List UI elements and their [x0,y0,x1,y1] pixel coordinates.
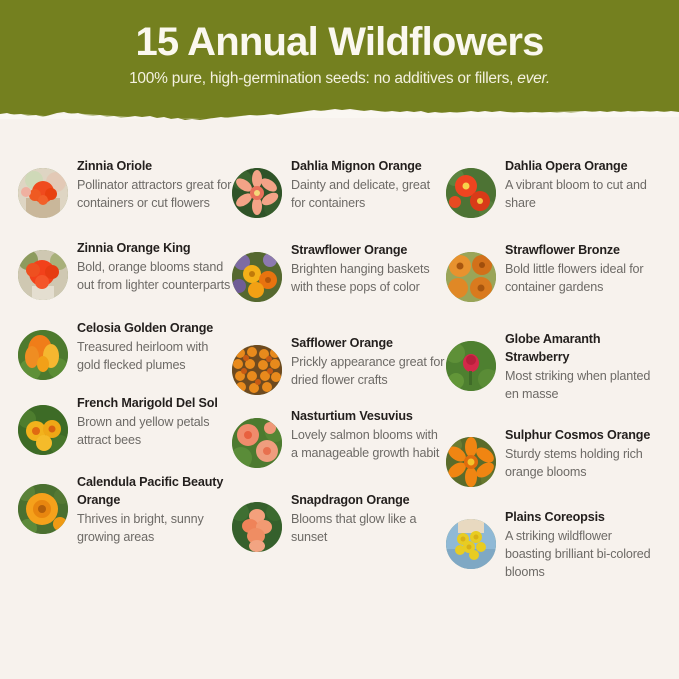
item-text: Nasturtium Vesuvius Lovely salmon blooms… [291,406,446,462]
item-description: A striking wildflower boasting brilliant… [505,527,661,581]
dahlia-opera-orange-photo-icon [446,168,496,218]
page-title: 15 Annual Wildflowers [0,20,679,64]
item-text: Zinnia Oriole Pollinator attractors grea… [77,156,232,212]
list-item[interactable]: Zinnia Oriole Pollinator attractors grea… [18,156,232,218]
list-item[interactable]: Strawflower Bronze Bold little flowers i… [446,240,661,302]
list-item[interactable]: Plains Coreopsis A striking wildflower b… [446,507,661,581]
list-item[interactable]: Snapdragon Orange Blooms that glow like … [232,490,446,552]
subtitle-emphasis-text: ever. [517,70,550,87]
item-text: Strawflower Orange Brighten hanging bask… [291,240,446,296]
item-description: Pollinator attractors great for containe… [77,176,232,212]
item-description: Treasured heirloom with gold flecked plu… [77,338,232,374]
nasturtium-vesuvius-photo-icon [232,418,282,468]
item-text: Strawflower Bronze Bold little flowers i… [505,240,661,296]
item-text: Snapdragon Orange Blooms that glow like … [291,490,446,546]
item-description: Blooms that glow like a sunset [291,510,446,546]
grid-columns: Zinnia Oriole Pollinator attractors grea… [18,142,661,592]
item-description: Bold little flowers ideal for container … [505,260,661,296]
page-header: 15 Annual Wildflowers 100% pure, high-ge… [0,0,679,128]
item-description: Lovely salmon blooms with a manageable g… [291,426,446,462]
zinnia-oriole-photo-icon [18,168,68,218]
item-name: Zinnia Orange King [77,240,232,258]
list-item[interactable]: Nasturtium Vesuvius Lovely salmon blooms… [232,406,446,468]
strawflower-bronze-photo-icon [446,252,496,302]
item-name: Calendula Pacific Beauty Orange [77,474,232,510]
item-text: Calendula Pacific Beauty Orange Thrives … [77,472,232,546]
item-name: French Marigold Del Sol [77,395,232,413]
item-text: French Marigold Del Sol Brown and yellow… [77,393,232,449]
safflower-orange-photo-icon [232,345,282,395]
item-description: Sturdy stems holding rich orange blooms [505,445,661,481]
flower-grid: Zinnia Oriole Pollinator attractors grea… [0,128,679,679]
item-name: Plains Coreopsis [505,509,661,527]
torn-paper-edge-icon [0,95,679,128]
list-item[interactable]: Sulphur Cosmos Orange Sturdy stems holdi… [446,425,661,487]
list-item[interactable]: Dahlia Mignon Orange Dainty and delicate… [232,156,446,218]
plains-coreopsis-photo-icon [446,519,496,569]
item-name: Sulphur Cosmos Orange [505,427,661,445]
subtitle-main-text: 100% pure, high-germination seeds: no ad… [129,70,517,87]
page-subtitle: 100% pure, high-germination seeds: no ad… [0,70,679,88]
list-item[interactable]: Safflower Orange Prickly appearance grea… [232,333,446,395]
item-description: Bold, orange blooms stand out from light… [77,258,232,294]
item-name: Nasturtium Vesuvius [291,408,446,426]
list-item[interactable]: French Marigold Del Sol Brown and yellow… [18,393,232,455]
item-description: Prickly appearance great for dried flowe… [291,353,446,389]
grid-column-2: Dahlia Mignon Orange Dainty and delicate… [232,142,446,592]
item-text: Plains Coreopsis A striking wildflower b… [505,507,661,581]
infographic-page: 15 Annual Wildflowers 100% pure, high-ge… [0,0,679,679]
list-item[interactable]: Celosia Golden Orange Treasured heirloom… [18,318,232,380]
celosia-golden-orange-photo-icon [18,330,68,380]
item-name: Dahlia Opera Orange [505,158,661,176]
item-name: Snapdragon Orange [291,492,446,510]
item-text: Dahlia Opera Orange A vibrant bloom to c… [505,156,661,212]
grid-column-1: Zinnia Oriole Pollinator attractors grea… [18,142,232,592]
item-text: Zinnia Orange King Bold, orange blooms s… [77,238,232,294]
item-text: Sulphur Cosmos Orange Sturdy stems holdi… [505,425,661,481]
list-item[interactable]: Zinnia Orange King Bold, orange blooms s… [18,238,232,300]
header-text-block: 15 Annual Wildflowers 100% pure, high-ge… [0,0,679,88]
item-name: Safflower Orange [291,335,446,353]
item-description: Brighten hanging baskets with these pops… [291,260,446,296]
french-marigold-del-sol-photo-icon [18,405,68,455]
list-item[interactable]: Calendula Pacific Beauty Orange Thrives … [18,472,232,546]
list-item[interactable]: Globe Amaranth Strawberry Most striking … [446,329,661,403]
item-name: Celosia Golden Orange [77,320,232,338]
item-name: Globe Amaranth Strawberry [505,331,661,367]
strawflower-orange-photo-icon [232,252,282,302]
item-text: Celosia Golden Orange Treasured heirloom… [77,318,232,374]
item-text: Globe Amaranth Strawberry Most striking … [505,329,661,403]
item-text: Dahlia Mignon Orange Dainty and delicate… [291,156,446,212]
item-name: Zinnia Oriole [77,158,232,176]
item-name: Dahlia Mignon Orange [291,158,446,176]
item-text: Safflower Orange Prickly appearance grea… [291,333,446,389]
calendula-pacific-beauty-orange-photo-icon [18,484,68,534]
item-description: Brown and yellow petals attract bees [77,413,232,449]
list-item[interactable]: Dahlia Opera Orange A vibrant bloom to c… [446,156,661,218]
item-description: Dainty and delicate, great for container… [291,176,446,212]
grid-column-3: Dahlia Opera Orange A vibrant bloom to c… [446,142,661,592]
item-description: A vibrant bloom to cut and share [505,176,661,212]
sulphur-cosmos-orange-photo-icon [446,437,496,487]
snapdragon-orange-photo-icon [232,502,282,552]
item-name: Strawflower Bronze [505,242,661,260]
item-description: Most striking when planted en masse [505,367,661,403]
dahlia-mignon-orange-photo-icon [232,168,282,218]
zinnia-orange-king-photo-icon [18,250,68,300]
list-item[interactable]: Strawflower Orange Brighten hanging bask… [232,240,446,302]
item-description: Thrives in bright, sunny growing areas [77,510,232,546]
item-name: Strawflower Orange [291,242,446,260]
globe-amaranth-strawberry-photo-icon [446,341,496,391]
